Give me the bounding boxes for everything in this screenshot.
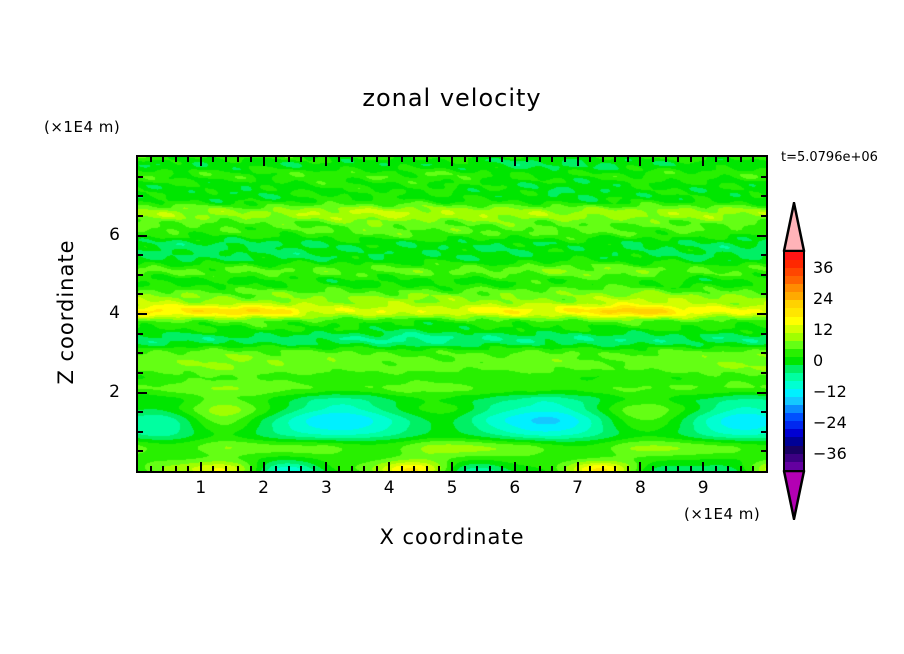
x-tick	[501, 157, 503, 162]
x-tick	[175, 157, 177, 162]
colorbar-tick-label: −12	[813, 382, 847, 401]
y-tick	[761, 274, 766, 276]
x-tick	[526, 157, 528, 162]
colorbar-tick-label: 12	[813, 320, 833, 339]
y-tick	[138, 274, 143, 276]
x-tick	[313, 157, 315, 162]
x-tick	[727, 157, 729, 162]
colorbar-band	[785, 252, 803, 260]
colorbar-band	[785, 373, 803, 381]
y-axis-units-label: (×1E4 m)	[44, 118, 120, 136]
x-tick	[639, 157, 641, 166]
x-tick	[250, 466, 252, 471]
colorbar-band	[785, 462, 803, 470]
x-tick	[627, 157, 629, 162]
colorbar-tick-label: 24	[813, 289, 833, 308]
colorbar-band	[785, 421, 803, 429]
colorbar-tick-label: −24	[813, 413, 847, 432]
colorbar-band	[785, 405, 803, 413]
colorbar-band	[785, 446, 803, 454]
x-tick	[162, 157, 164, 162]
x-tick	[501, 466, 503, 471]
x-tick	[577, 157, 579, 166]
x-tick	[514, 462, 516, 471]
y-tick	[138, 215, 143, 217]
colorbar-band	[785, 381, 803, 389]
colorbar-band	[785, 292, 803, 300]
x-tick	[514, 157, 516, 166]
x-tick	[225, 466, 227, 471]
colorbar-band	[785, 300, 803, 308]
y-tick	[138, 235, 147, 237]
x-tick	[187, 466, 189, 471]
x-tick-label: 9	[683, 478, 723, 498]
x-tick	[162, 466, 164, 471]
x-tick	[426, 157, 428, 162]
x-tick	[464, 157, 466, 162]
colorbar-tick-label: −36	[813, 444, 847, 463]
x-tick	[702, 462, 704, 471]
colorbar-band	[785, 413, 803, 421]
x-tick	[325, 462, 327, 471]
colorbar-band	[785, 389, 803, 397]
x-tick	[627, 466, 629, 471]
x-tick	[702, 157, 704, 166]
colorbar-band	[785, 454, 803, 462]
x-tick-label: 4	[369, 478, 409, 498]
x-tick	[275, 466, 277, 471]
y-tick	[761, 254, 766, 256]
x-tick	[652, 157, 654, 162]
colorbar-under-arrow-icon	[781, 470, 807, 520]
y-tick	[138, 392, 147, 394]
x-tick	[175, 466, 177, 471]
x-tick	[715, 466, 717, 471]
x-tick	[727, 466, 729, 471]
x-tick	[526, 466, 528, 471]
y-tick	[761, 372, 766, 374]
x-tick-label: 8	[620, 478, 660, 498]
x-tick	[639, 462, 641, 471]
x-tick	[438, 466, 440, 471]
x-tick	[489, 466, 491, 471]
y-tick	[761, 450, 766, 452]
x-tick	[150, 157, 152, 162]
x-tick	[187, 157, 189, 162]
x-tick	[589, 466, 591, 471]
x-tick	[589, 157, 591, 162]
x-tick	[237, 466, 239, 471]
x-tick	[564, 466, 566, 471]
x-tick	[690, 157, 692, 162]
x-tick	[476, 157, 478, 162]
y-tick	[761, 431, 766, 433]
colorbar-band	[785, 268, 803, 276]
x-tick	[351, 466, 353, 471]
x-tick	[715, 157, 717, 162]
x-tick	[413, 157, 415, 162]
x-tick	[464, 466, 466, 471]
y-tick	[138, 372, 143, 374]
chart-title: zonal velocity	[0, 84, 904, 112]
x-tick	[388, 462, 390, 471]
y-tick	[138, 195, 143, 197]
y-tick	[138, 293, 143, 295]
colorbar-band	[785, 365, 803, 373]
x-tick	[338, 157, 340, 162]
y-tick-label: 2	[96, 382, 120, 402]
x-tick	[740, 466, 742, 471]
y-tick	[761, 293, 766, 295]
y-tick	[138, 254, 143, 256]
x-tick	[602, 157, 604, 162]
x-tick	[752, 157, 754, 162]
x-tick	[212, 157, 214, 162]
y-tick	[761, 352, 766, 354]
colorbar: 3624120−12−24−36	[781, 202, 807, 517]
x-tick	[250, 157, 252, 162]
y-tick	[757, 235, 766, 237]
x-tick	[376, 157, 378, 162]
colorbar-band	[785, 397, 803, 405]
x-tick	[451, 462, 453, 471]
y-tick	[138, 450, 143, 452]
x-tick	[564, 157, 566, 162]
x-tick	[200, 157, 202, 166]
time-annotation: t=5.0796e+06	[781, 150, 878, 165]
x-tick	[363, 157, 365, 162]
x-tick-label: 6	[495, 478, 535, 498]
x-tick	[200, 462, 202, 471]
x-tick	[539, 466, 541, 471]
x-tick	[476, 466, 478, 471]
x-tick	[313, 466, 315, 471]
x-tick	[752, 466, 754, 471]
x-tick	[363, 466, 365, 471]
x-tick	[300, 157, 302, 162]
y-tick	[757, 313, 766, 315]
y-axis-title: Z coordinate	[54, 222, 78, 402]
colorbar-over-arrow-icon	[781, 202, 807, 252]
x-tick	[388, 157, 390, 166]
x-tick	[665, 466, 667, 471]
x-tick	[237, 157, 239, 162]
y-tick	[138, 352, 143, 354]
colorbar-bands	[783, 250, 805, 472]
x-tick	[614, 466, 616, 471]
y-tick	[138, 176, 143, 178]
x-tick	[551, 466, 553, 471]
x-tick	[489, 157, 491, 162]
y-tick	[761, 333, 766, 335]
x-tick	[602, 466, 604, 471]
x-tick	[652, 466, 654, 471]
y-tick	[138, 333, 143, 335]
colorbar-band	[785, 284, 803, 292]
x-tick	[351, 157, 353, 162]
y-tick	[138, 313, 147, 315]
x-tick	[263, 462, 265, 471]
y-tick	[761, 176, 766, 178]
y-tick	[761, 215, 766, 217]
x-axis-units-label: (×1E4 m)	[684, 505, 760, 523]
x-tick	[300, 466, 302, 471]
y-tick-label: 6	[96, 225, 120, 245]
x-tick-label: 7	[558, 478, 598, 498]
x-tick	[438, 157, 440, 162]
x-axis-title: X coordinate	[136, 525, 768, 549]
x-tick	[288, 466, 290, 471]
colorbar-band	[785, 437, 803, 445]
colorbar-band	[785, 260, 803, 268]
colorbar-band	[785, 308, 803, 316]
x-tick	[614, 157, 616, 162]
x-tick-label: 2	[244, 478, 284, 498]
x-tick	[275, 157, 277, 162]
y-tick	[138, 411, 143, 413]
x-tick	[150, 466, 152, 471]
x-tick	[677, 466, 679, 471]
colorbar-band	[785, 357, 803, 365]
x-tick	[212, 466, 214, 471]
colorbar-tick-label: 0	[813, 351, 823, 370]
colorbar-band	[785, 325, 803, 333]
y-tick-label: 4	[96, 303, 120, 323]
x-tick	[677, 157, 679, 162]
x-tick	[539, 157, 541, 162]
x-tick	[426, 466, 428, 471]
x-tick	[263, 157, 265, 166]
contour-field	[138, 157, 766, 471]
colorbar-band	[785, 317, 803, 325]
x-tick	[401, 157, 403, 162]
x-tick	[338, 466, 340, 471]
y-tick	[761, 195, 766, 197]
x-tick	[325, 157, 327, 166]
x-tick	[577, 462, 579, 471]
x-tick	[740, 157, 742, 162]
x-tick-label: 1	[181, 478, 221, 498]
x-tick	[376, 466, 378, 471]
colorbar-band	[785, 276, 803, 284]
y-tick	[757, 392, 766, 394]
colorbar-band	[785, 429, 803, 437]
x-tick	[225, 157, 227, 162]
x-tick	[413, 466, 415, 471]
colorbar-band	[785, 333, 803, 341]
x-tick	[401, 466, 403, 471]
x-tick	[288, 157, 290, 162]
x-tick	[551, 157, 553, 162]
x-tick-label: 5	[432, 478, 472, 498]
x-tick	[451, 157, 453, 166]
x-tick	[665, 157, 667, 162]
colorbar-band	[785, 341, 803, 349]
y-tick	[761, 411, 766, 413]
colorbar-band	[785, 349, 803, 357]
colorbar-tick-label: 36	[813, 258, 833, 277]
y-tick	[138, 431, 143, 433]
contour-plot-area	[136, 155, 768, 473]
x-tick-label: 3	[306, 478, 346, 498]
x-tick	[690, 466, 692, 471]
